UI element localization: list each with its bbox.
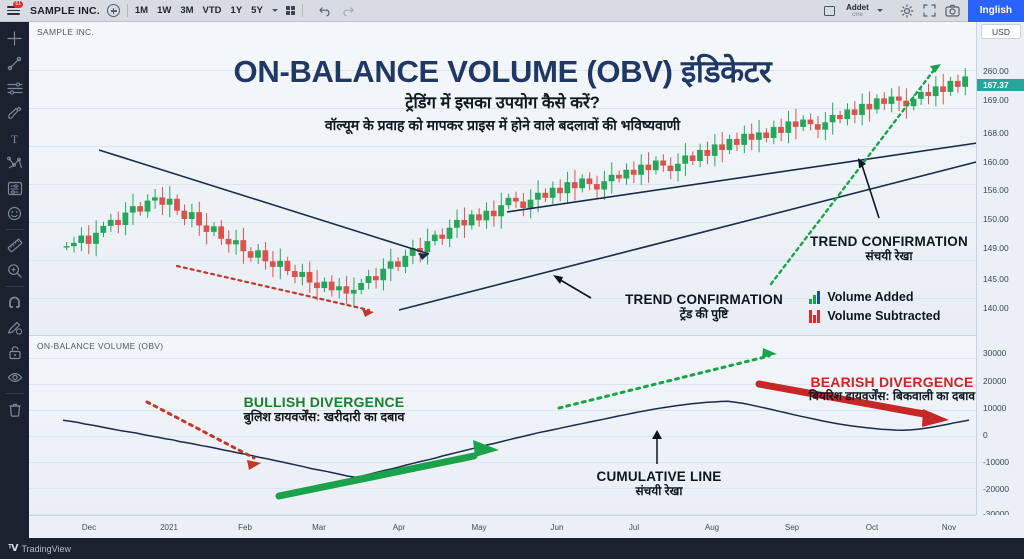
chevron-down-icon[interactable] <box>272 9 278 12</box>
currency-badge[interactable]: USD <box>981 24 1021 39</box>
arrow-head <box>247 460 261 470</box>
price-axis[interactable]: USD 260.00 167.37 169.00 168.00 160.00 1… <box>976 22 1024 515</box>
pattern-icon[interactable] <box>0 151 29 176</box>
price-annotations-layer <box>29 22 976 334</box>
legend-item-volume-added: Volume Added <box>809 290 940 304</box>
brush-icon[interactable] <box>0 101 29 126</box>
obv-tick-neg20000: -20000 <box>977 484 1024 494</box>
left-drawing-toolbar: T <box>0 22 29 559</box>
volume-added-bars-icon <box>809 291 820 304</box>
ruler-icon[interactable] <box>0 233 29 258</box>
arrow-head <box>473 440 499 457</box>
magnet-icon[interactable] <box>0 290 29 315</box>
emoji-icon[interactable] <box>0 201 29 226</box>
price-tick-260: 260.00 <box>977 66 1024 76</box>
obv-annotations-layer <box>29 336 976 516</box>
obv-tick-10000: 10000 <box>977 403 1024 413</box>
arrow-head <box>418 253 429 260</box>
arrow-head <box>553 275 563 284</box>
volume-subtracted-bars-icon <box>809 310 820 323</box>
price-tick-156: 156.00 <box>977 185 1024 195</box>
price-tick-145: 145.00 <box>977 274 1024 284</box>
horizontal-lines-icon[interactable] <box>0 76 29 101</box>
compare-square-icon[interactable] <box>824 6 835 16</box>
range-1m[interactable]: 1M <box>135 5 148 16</box>
toolbar-divider <box>127 4 128 17</box>
descending-resistance-line <box>99 150 429 254</box>
price-tick-169: 169.00 <box>977 95 1024 105</box>
obv-tick-neg10000: -10000 <box>977 457 1024 467</box>
language-button[interactable]: Inglish <box>968 0 1024 22</box>
chart-area[interactable]: SAMPLE INC. ON-BALANCE VOLUME (OBV) इंडि… <box>29 22 1024 538</box>
time-tick-jun: Jun <box>551 523 564 532</box>
time-tick-feb: Feb <box>238 523 252 532</box>
symbol-name[interactable]: SAMPLE INC. <box>30 5 100 17</box>
obv-pane[interactable]: ON-BALANCE VOLUME (OBV) <box>29 335 976 515</box>
pencil-lock-icon[interactable] <box>0 315 29 340</box>
annotation-cumulative-line: CUMULATIVE LINE संचयी रेखा <box>549 469 769 498</box>
time-tick-sep: Sep <box>785 523 799 532</box>
redo-icon[interactable] <box>341 5 354 16</box>
tradingview-chart-app: 61 SAMPLE INC. 1M 1W 3M VTD 1Y 5Y Addet … <box>0 0 1024 559</box>
ascending-channel-upper <box>507 142 984 212</box>
gear-icon[interactable] <box>900 4 914 18</box>
crosshair-icon[interactable] <box>0 26 29 51</box>
addet-subtitle: one <box>846 11 869 18</box>
add-symbol-button[interactable] <box>107 4 120 17</box>
eye-icon[interactable] <box>0 365 29 390</box>
obv-tick-0: 0 <box>977 430 1024 440</box>
toolbar-divider-left-2 <box>6 286 24 287</box>
tradingview-brand-label: TradingView <box>21 544 71 554</box>
zoom-icon[interactable] <box>0 258 29 283</box>
tradingview-logo[interactable]: ᵀ𝗩 TradingView <box>8 543 71 554</box>
time-tick-jul: Jul <box>629 523 639 532</box>
menu-button[interactable]: 61 <box>0 0 26 22</box>
trash-icon[interactable] <box>0 397 29 422</box>
legend-item-volume-subtracted: Volume Subtracted <box>809 309 940 323</box>
lock-icon[interactable] <box>0 340 29 365</box>
time-tick-2021: 2021 <box>160 523 178 532</box>
axis-corner <box>976 515 1024 538</box>
undo-icon[interactable] <box>319 5 332 16</box>
toolbar-divider-left-1 <box>6 229 24 230</box>
time-tick-nov: Nov <box>942 523 956 532</box>
arrow-head <box>652 430 662 439</box>
time-tick-aug: Aug <box>705 523 719 532</box>
obv-tick-30000: 30000 <box>977 348 1024 358</box>
toolbar-divider-left-3 <box>6 393 24 394</box>
tradingview-mark-icon: ᵀ𝗩 <box>8 543 17 554</box>
legend-label-volume-subtracted: Volume Subtracted <box>827 309 940 323</box>
price-tick-150: 150.00 <box>977 214 1024 224</box>
layout-grid-icon[interactable] <box>286 6 296 16</box>
top-toolbar: 61 SAMPLE INC. 1M 1W 3M VTD 1Y 5Y Addet … <box>0 0 1024 22</box>
price-tick-160: 160.00 <box>977 157 1024 167</box>
time-tick-apr: Apr <box>393 523 405 532</box>
arrow-head <box>922 409 949 427</box>
time-tick-may: May <box>471 523 486 532</box>
price-tick-168: 168.00 <box>977 128 1024 138</box>
range-1y[interactable]: 1Y <box>231 5 243 16</box>
footer-bar: ᵀ𝗩 TradingView <box>0 538 1024 559</box>
time-tick-oct: Oct <box>866 523 878 532</box>
annotation-trend-confirmation-1: TREND CONFIRMATION ट्रेंड की पुष्टि <box>584 292 824 321</box>
svg-text:T: T <box>11 132 19 146</box>
measure-icon[interactable] <box>0 176 29 201</box>
menu-badge: 61 <box>13 1 23 8</box>
new-lows-dotted-line <box>177 266 369 310</box>
addet-title: Addet <box>846 4 869 11</box>
addet-dropdown[interactable]: Addet one <box>846 4 869 18</box>
price-tick-140: 140.00 <box>977 303 1024 313</box>
current-price-badge: 167.37 <box>977 79 1024 91</box>
time-tick-dec: Dec <box>82 523 96 532</box>
trend-line-icon[interactable] <box>0 51 29 76</box>
range-vtd[interactable]: VTD <box>203 5 222 16</box>
price-tick-149: 149.00 <box>977 243 1024 253</box>
range-3m[interactable]: 3M <box>180 5 193 16</box>
toolbar-divider-2 <box>302 4 303 17</box>
annotation-bullish-divergence: BULLISH DIVERGENCE बुलिश डायवर्जेंस: खरी… <box>179 394 469 424</box>
obv-bullish-arrow-up <box>279 456 474 496</box>
addet-chevron-down-icon[interactable] <box>877 9 883 12</box>
range-5y[interactable]: 5Y <box>251 5 263 16</box>
time-tick-mar: Mar <box>312 523 326 532</box>
time-axis[interactable]: Dec 2021 Feb Mar Apr May Jun Jul Aug Sep… <box>29 515 976 538</box>
price-pane[interactable]: SAMPLE INC. ON-BALANCE VOLUME (OBV) इंडि… <box>29 22 976 334</box>
camera-icon[interactable] <box>945 4 960 17</box>
fullscreen-icon[interactable] <box>923 4 936 17</box>
obv-tick-20000: 20000 <box>977 376 1024 386</box>
volume-legend: Volume Added Volume Subtracted <box>809 290 940 328</box>
text-tool-icon[interactable]: T <box>0 126 29 151</box>
range-1w[interactable]: 1W <box>157 5 171 16</box>
legend-label-volume-added: Volume Added <box>827 290 913 304</box>
pointer-line <box>861 162 879 218</box>
obv-bearish-dotted-up <box>559 356 769 408</box>
